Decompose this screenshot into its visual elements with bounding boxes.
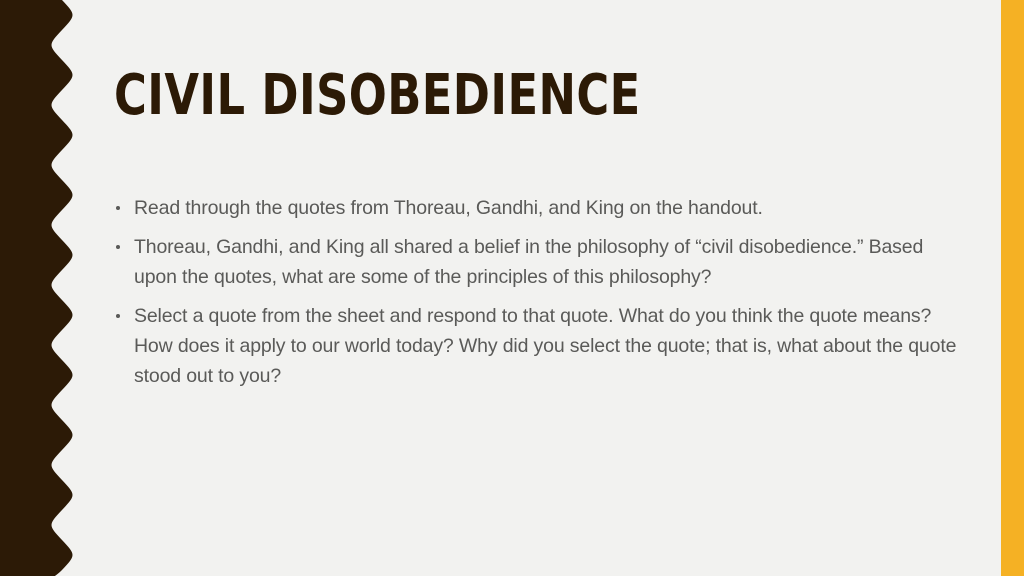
bullet-item: Thoreau, Gandhi, and King all shared a b… [112, 232, 962, 292]
presentation-slide: Civil Disobedience Read through the quot… [0, 0, 1024, 576]
left-wavy-band-decoration [0, 0, 90, 576]
bullet-list: Read through the quotes from Thoreau, Ga… [112, 193, 962, 391]
wavy-edge-path [0, 0, 73, 576]
bullet-item: Select a quote from the sheet and respon… [112, 301, 962, 391]
slide-title: Civil Disobedience [114, 65, 778, 127]
slide-body-content: Read through the quotes from Thoreau, Ga… [112, 193, 962, 391]
bullet-item: Read through the quotes from Thoreau, Ga… [112, 193, 962, 223]
right-accent-bar [1001, 0, 1024, 576]
